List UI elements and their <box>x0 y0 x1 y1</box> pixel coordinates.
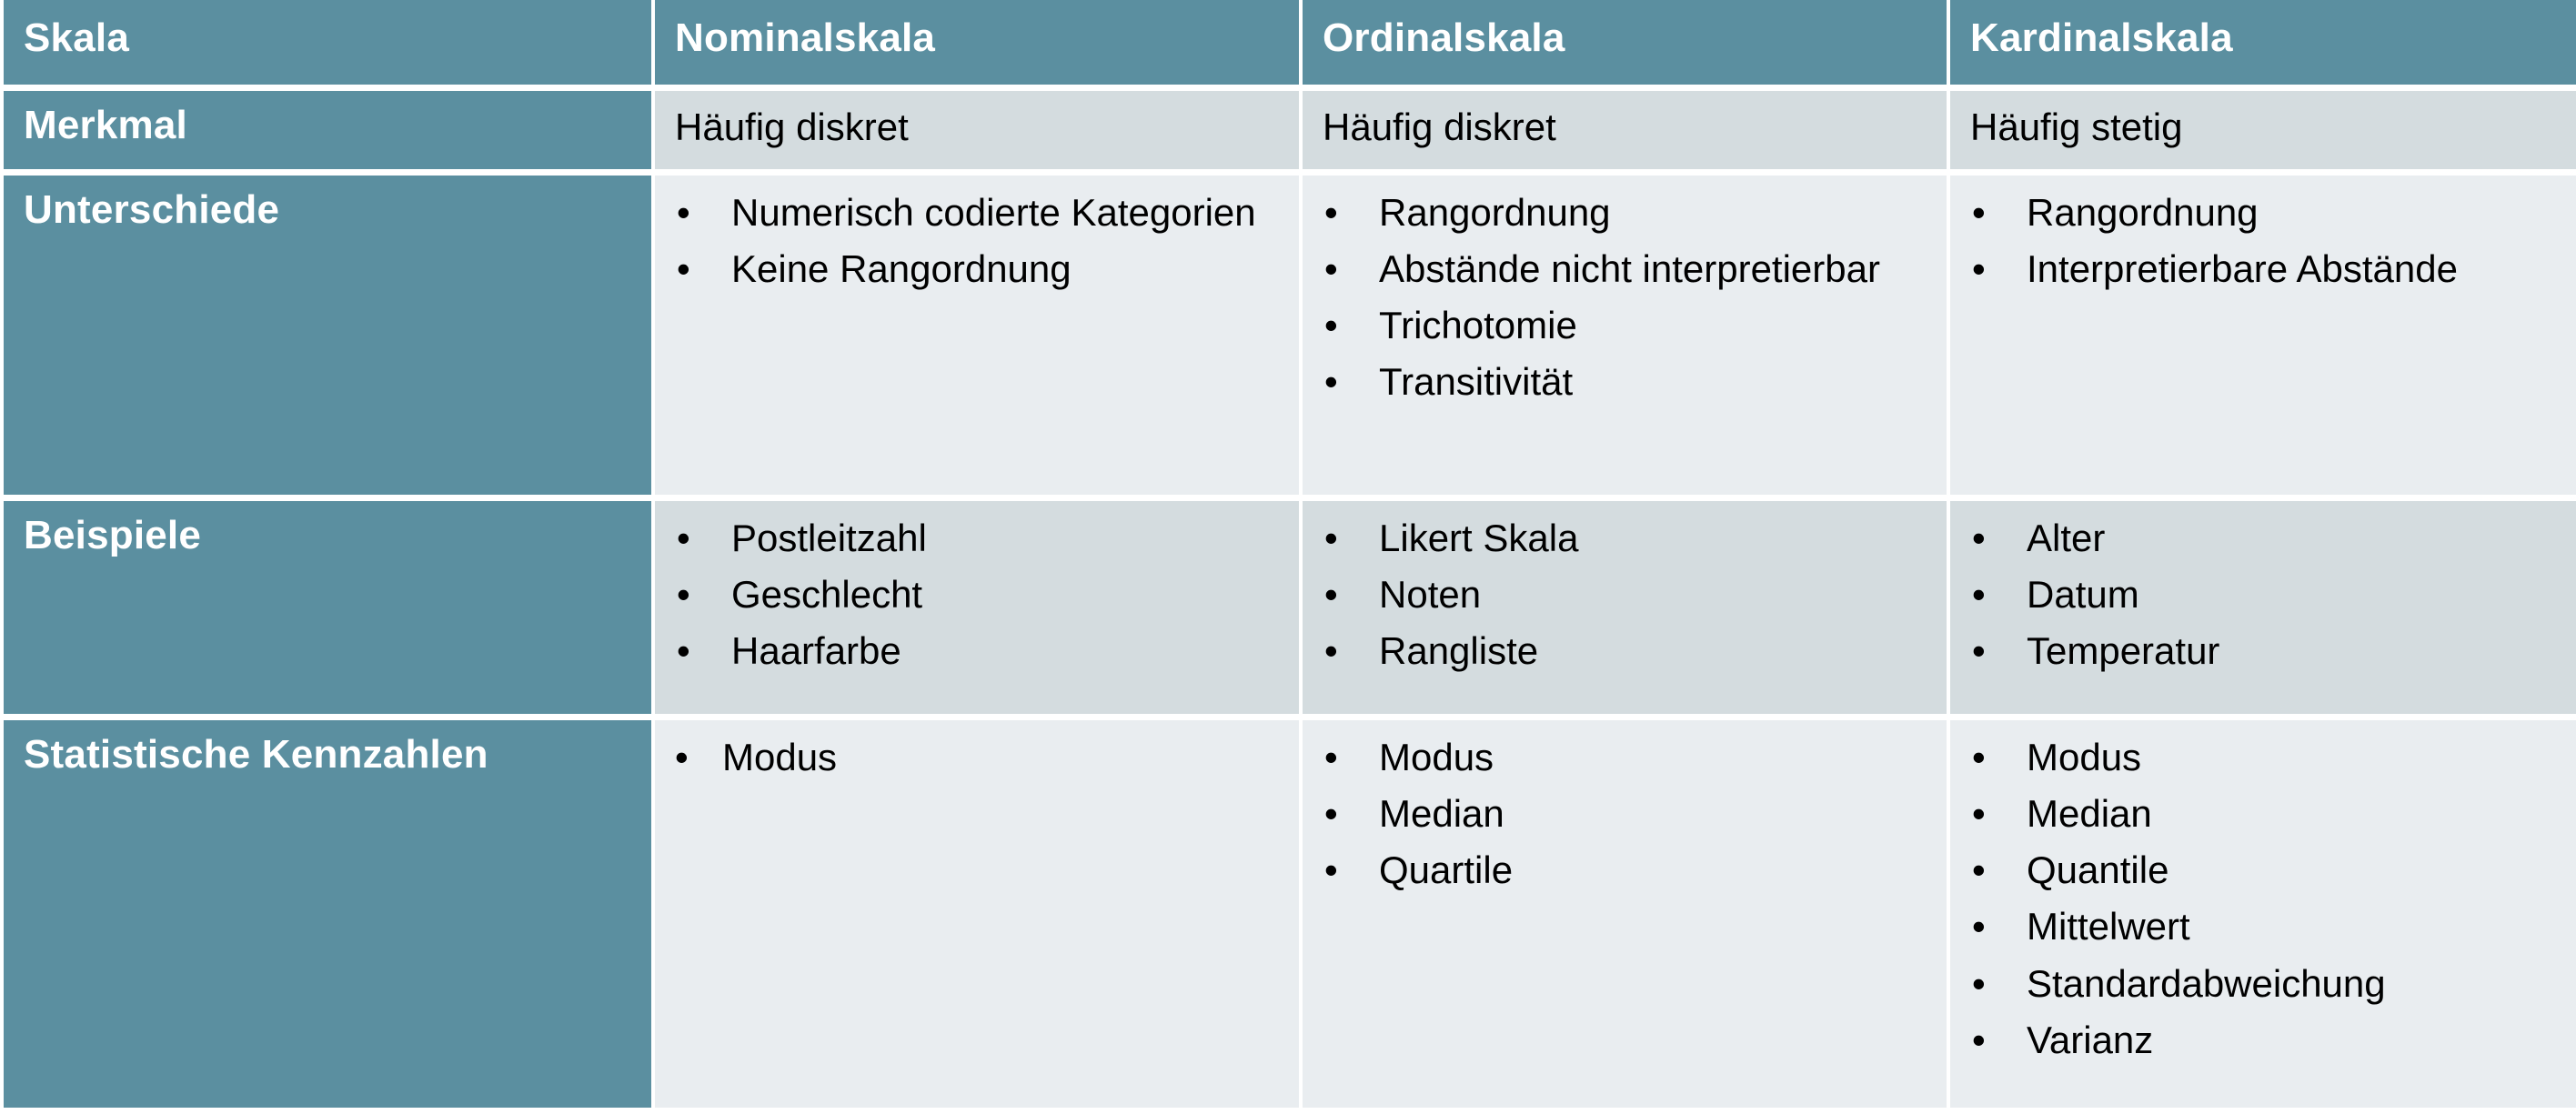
list-item: • Varianz <box>1970 1018 2576 1062</box>
list-item: • Datum <box>1970 572 2576 617</box>
scale-comparison-table: Skala Nominalskala Ordinalskala Kardinal… <box>0 0 2576 1114</box>
list-item: • Postleitzahl <box>675 516 1290 560</box>
list-item-label: Quantile <box>2027 848 2168 891</box>
bullet-icon: • <box>1972 628 1986 673</box>
list-item: • Mittelwert <box>1970 904 2576 948</box>
bullet-list: • Postleitzahl • Geschlecht • Haarfarbe <box>675 516 1290 673</box>
bullet-list: • Alter • Datum • Temperatur <box>1970 516 2576 673</box>
bullet-icon: • <box>1972 904 1986 948</box>
list-item: • Rangordnung <box>1970 190 2576 235</box>
cell-kennzahlen-ordinal: • Modus • Median • Quartile <box>1303 720 1947 1108</box>
list-item-label: Keine Rangordnung <box>731 247 1072 290</box>
bullet-icon: • <box>1324 303 1338 347</box>
list-item: • Interpretierbare Abstände <box>1970 246 2576 291</box>
list-item: • Standardabweichung <box>1970 961 2576 1006</box>
list-item-label: Interpretierbare Abstände <box>2027 247 2458 290</box>
list-item-label: Mittelwert <box>2027 905 2190 948</box>
list-item-label: Transitivität <box>1379 360 1573 403</box>
bullet-icon: • <box>1972 848 1986 892</box>
column-header-skala: Skala <box>4 0 651 85</box>
list-item: • Alter <box>1970 516 2576 560</box>
list-item-label: Trichotomie <box>1379 304 1577 346</box>
list-item: • Numerisch codierte Kategorien <box>675 190 1290 235</box>
table-body: Merkmal Häufig diskret Häufig diskret Hä… <box>4 91 2576 1108</box>
cell-unterschiede-kardinal: • Rangordnung • Interpretierbare Abständ… <box>1950 176 2576 495</box>
bullet-icon: • <box>1972 516 1986 560</box>
bullet-icon: • <box>1972 961 1986 1006</box>
bullet-list: • Likert Skala • Noten • Rangliste <box>1323 516 1937 673</box>
column-header-kardinalskala: Kardinalskala <box>1950 0 2576 85</box>
bullet-list: • Rangordnung • Abstände nicht interpret… <box>1323 190 1937 405</box>
bullet-list: • Rangordnung • Interpretierbare Abständ… <box>1970 190 2576 291</box>
bullet-icon: • <box>1324 516 1338 560</box>
list-item: • Transitivität <box>1323 359 1937 404</box>
list-item-label: Median <box>1379 792 1504 835</box>
bullet-icon: • <box>677 516 690 560</box>
list-item: • Median <box>1970 791 2576 836</box>
cell-merkmal-kardinal: Häufig stetig <box>1950 91 2576 169</box>
bullet-list: • Modus • Median • Quantile • <box>1970 735 2576 1062</box>
bullet-icon: • <box>677 190 690 235</box>
list-item: • Keine Rangordnung <box>675 246 1290 291</box>
list-item-label: Rangordnung <box>2027 191 2259 234</box>
list-item-label: Varianz <box>2027 1019 2153 1061</box>
bullet-list: • Modus • Median • Quartile <box>1323 735 1937 892</box>
bullet-icon: • <box>1324 359 1338 404</box>
list-item: • Noten <box>1323 572 1937 617</box>
list-item: • Rangordnung <box>1323 190 1937 235</box>
row-label-merkmal: Merkmal <box>4 91 651 169</box>
list-item-label: Temperatur <box>2027 629 2219 672</box>
table-row: Merkmal Häufig diskret Häufig diskret Hä… <box>4 91 2576 169</box>
list-item: • Modus <box>1970 735 2576 779</box>
cell-kennzahlen-kardinal: • Modus • Median • Quantile • <box>1950 720 2576 1108</box>
bullet-icon: • <box>1324 572 1338 617</box>
cell-text: Häufig diskret <box>1323 105 1937 147</box>
list-item-label: Modus <box>722 736 837 778</box>
list-item-label: Datum <box>2027 573 2139 616</box>
row-label-beispiele: Beispiele <box>4 501 651 714</box>
cell-merkmal-nominal: Häufig diskret <box>655 91 1299 169</box>
list-item: • Modus <box>1323 735 1937 779</box>
cell-kennzahlen-nominal: • Modus <box>655 720 1299 1108</box>
scale-comparison-table-container: Skala Nominalskala Ordinalskala Kardinal… <box>0 0 2576 1079</box>
table-row: Beispiele • Postleitzahl • Geschlecht • <box>4 501 2576 714</box>
bullet-icon: • <box>1324 246 1338 291</box>
column-header-nominalskala: Nominalskala <box>655 0 1299 85</box>
table-row: Statistische Kennzahlen • Modus • Modus <box>4 720 2576 1108</box>
list-item: • Likert Skala <box>1323 516 1937 560</box>
bullet-list: • Modus <box>675 735 1290 779</box>
list-item: • Rangliste <box>1323 628 1937 673</box>
list-item-label: Modus <box>1379 736 1494 778</box>
list-item-label: Numerisch codierte Kategorien <box>731 191 1256 234</box>
list-item: • Median <box>1323 791 1937 836</box>
bullet-icon: • <box>1972 572 1986 617</box>
bullet-icon: • <box>1972 190 1986 235</box>
bullet-icon: • <box>675 735 689 779</box>
list-item-label: Quartile <box>1379 848 1513 891</box>
cell-text: Häufig stetig <box>1970 105 2576 147</box>
bullet-icon: • <box>677 246 690 291</box>
cell-merkmal-ordinal: Häufig diskret <box>1303 91 1947 169</box>
bullet-icon: • <box>1972 246 1986 291</box>
list-item-label: Noten <box>1379 573 1481 616</box>
list-item: • Trichotomie <box>1323 303 1937 347</box>
list-item-label: Rangordnung <box>1379 191 1611 234</box>
bullet-icon: • <box>677 572 690 617</box>
cell-beispiele-nominal: • Postleitzahl • Geschlecht • Haarfarbe <box>655 501 1299 714</box>
list-item-label: Geschlecht <box>731 573 922 616</box>
list-item: • Geschlecht <box>675 572 1290 617</box>
cell-beispiele-ordinal: • Likert Skala • Noten • Rangliste <box>1303 501 1947 714</box>
list-item: • Quantile <box>1970 848 2576 892</box>
bullet-icon: • <box>1324 791 1338 836</box>
bullet-icon: • <box>1324 190 1338 235</box>
column-header-ordinalskala: Ordinalskala <box>1303 0 1947 85</box>
table-row: Unterschiede • Numerisch codierte Katego… <box>4 176 2576 495</box>
list-item-label: Abstände nicht interpretierbar <box>1379 247 1880 290</box>
list-item-label: Standardabweichung <box>2027 962 2386 1005</box>
list-item-label: Likert Skala <box>1379 517 1578 559</box>
cell-beispiele-kardinal: • Alter • Datum • Temperatur <box>1950 501 2576 714</box>
cell-unterschiede-ordinal: • Rangordnung • Abstände nicht interpret… <box>1303 176 1947 495</box>
bullet-icon: • <box>677 628 690 673</box>
bullet-icon: • <box>1324 628 1338 673</box>
bullet-icon: • <box>1324 735 1338 779</box>
list-item: • Haarfarbe <box>675 628 1290 673</box>
list-item-label: Rangliste <box>1379 629 1538 672</box>
list-item: • Abstände nicht interpretierbar <box>1323 246 1937 291</box>
header-row: Skala Nominalskala Ordinalskala Kardinal… <box>4 0 2576 85</box>
list-item: • Temperatur <box>1970 628 2576 673</box>
row-label-statistische-kennzahlen: Statistische Kennzahlen <box>4 720 651 1108</box>
list-item: • Modus <box>675 735 1290 779</box>
bullet-icon: • <box>1324 848 1338 892</box>
list-item-label: Modus <box>2027 736 2141 778</box>
bullet-icon: • <box>1972 1018 1986 1062</box>
cell-unterschiede-nominal: • Numerisch codierte Kategorien • Keine … <box>655 176 1299 495</box>
table-header: Skala Nominalskala Ordinalskala Kardinal… <box>4 0 2576 85</box>
list-item-label: Haarfarbe <box>731 629 901 672</box>
list-item-label: Postleitzahl <box>731 517 927 559</box>
cell-text: Häufig diskret <box>675 105 1290 147</box>
list-item: • Quartile <box>1323 848 1937 892</box>
bullet-icon: • <box>1972 735 1986 779</box>
bullet-icon: • <box>1972 791 1986 836</box>
row-label-unterschiede: Unterschiede <box>4 176 651 495</box>
list-item-label: Alter <box>2027 517 2105 559</box>
bullet-list: • Numerisch codierte Kategorien • Keine … <box>675 190 1290 291</box>
list-item-label: Median <box>2027 792 2152 835</box>
